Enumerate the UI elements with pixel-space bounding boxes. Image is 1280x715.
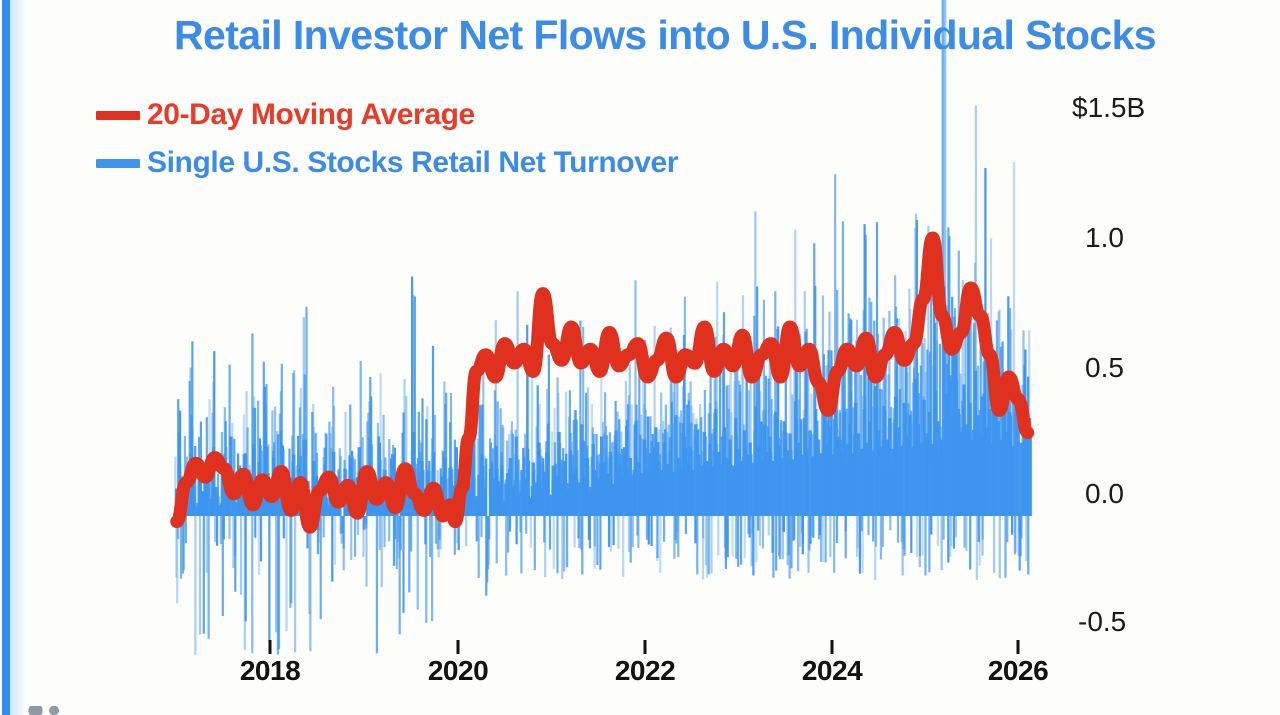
x-tick-mark [831,640,834,654]
x-tick-mark [457,640,460,654]
x-tick-mark [1017,640,1020,654]
watermark-logo [28,706,70,715]
y-tick-label: -0.5 [1078,606,1126,638]
bar-series-net-turnover [175,0,1031,655]
x-tick-label: 2024 [802,655,862,687]
x-tick-mark [644,640,647,654]
y-tick-label: 1.0 [1085,222,1124,254]
x-tick-mark [269,640,272,654]
y-tick-label: 0.0 [1085,478,1124,510]
y-tick-label: 0.5 [1085,352,1124,384]
x-tick-label: 2022 [615,655,675,687]
y-tick-label: $1.5B [1072,92,1145,124]
x-tick-label: 2018 [240,655,300,687]
chart-root: Retail Investor Net Flows into U.S. Indi… [0,0,1280,715]
x-tick-label: 2026 [988,655,1048,687]
x-tick-label: 2020 [428,655,488,687]
